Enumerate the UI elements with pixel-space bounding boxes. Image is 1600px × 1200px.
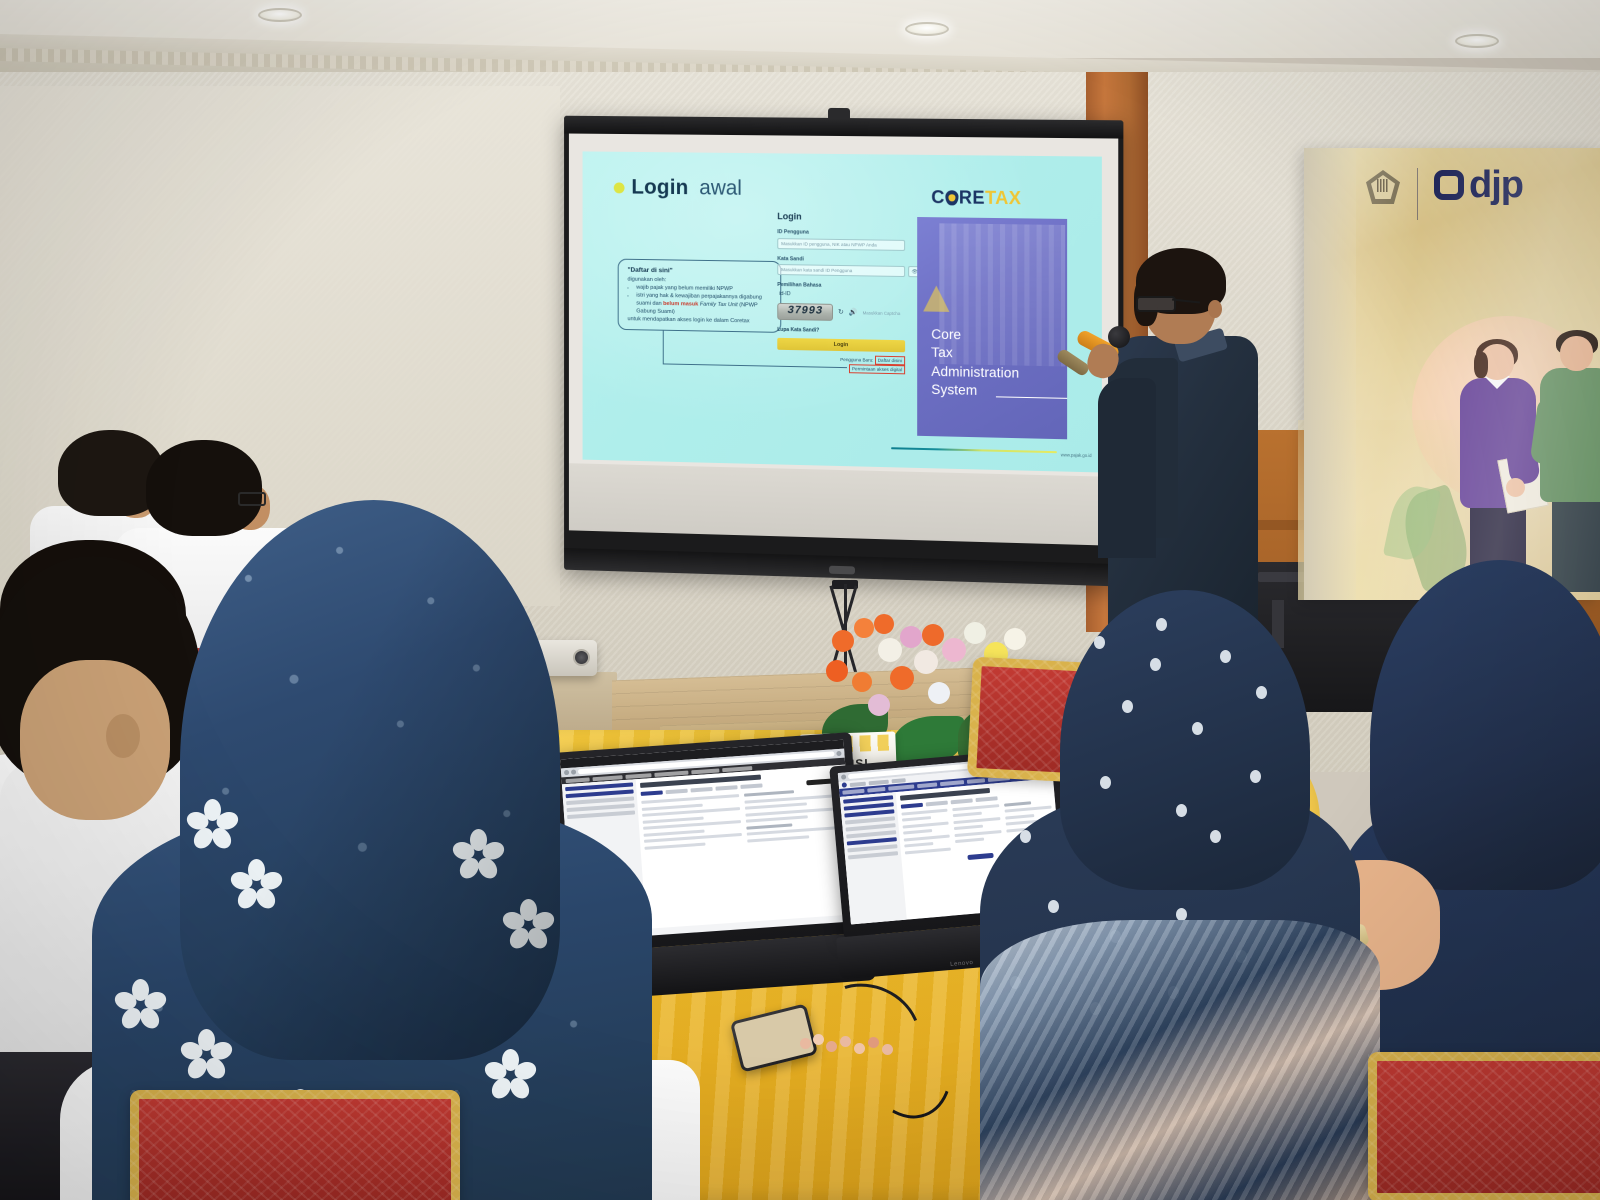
- back-icon[interactable]: [841, 774, 846, 779]
- hero-text: Core Tax Administration System: [931, 325, 1019, 402]
- captcha-row: 37993 ↻ 🔊 Masukkan Captcha: [777, 302, 905, 321]
- tab-informasi-umum[interactable]: [665, 789, 687, 794]
- bullet-dot-icon: [614, 182, 625, 193]
- microphone-head-icon: [1108, 326, 1130, 348]
- callout-tail: untuk mendapatkan akses login ke dalam C…: [627, 316, 771, 326]
- glasses-icon: [1136, 296, 1176, 312]
- patterned-scarf: [980, 920, 1380, 1200]
- user-id-input[interactable]: Masukkan ID pengguna, NIK atau NPWP Anda: [777, 238, 905, 251]
- hero-line-4: System: [931, 381, 1019, 402]
- decorative-triangle-icon: [923, 285, 949, 312]
- forgot-password-link[interactable]: Lupa Kata Sandi?: [777, 326, 905, 334]
- callout-heading: "Daftar di sini": [627, 267, 771, 276]
- hero-line-2: Tax: [931, 344, 1019, 364]
- tab-profil[interactable]: [900, 803, 922, 808]
- captcha-image: 37993: [777, 302, 833, 320]
- ceiling-light-icon: [1455, 34, 1499, 48]
- tab-detail-kontak[interactable]: [950, 798, 972, 803]
- hero-line-3: Administration: [931, 363, 1019, 384]
- tab-informasi-umum[interactable]: [925, 801, 947, 806]
- tab-pihak-terkait[interactable]: [715, 785, 737, 790]
- login-footer-links: Pengguna Baru: Daftar disini Permintaan …: [777, 353, 905, 374]
- new-user-prefix: Pengguna Baru:: [840, 357, 873, 363]
- beaded-strap: [800, 1032, 896, 1066]
- ceiling-light-icon: [905, 22, 949, 36]
- menu-icon[interactable]: [836, 751, 841, 756]
- user-id-label: ID Pengguna: [777, 229, 905, 237]
- password-input[interactable]: Masukkan kata sandi ID Pengguna: [777, 264, 905, 277]
- coretax-logo: CRETAX: [931, 187, 1021, 209]
- callout-body: digunakan oleh: wajib pajak yang belum m…: [627, 277, 771, 327]
- djp-banner: djp: [1304, 148, 1600, 600]
- ceiling-light-icon: [258, 8, 302, 22]
- banquet-chair: [1368, 1052, 1600, 1200]
- slide-footer-url: www.pajak.go.id: [1061, 452, 1092, 458]
- login-form-card: Login ID Pengguna Masukkan ID pengguna, …: [777, 211, 905, 435]
- coretax-hero-panel: Core Tax Administration System: [917, 217, 1067, 439]
- hero-line-1: Core: [931, 325, 1019, 345]
- audience-member-hijab: [980, 590, 1360, 1200]
- slide-title-light: awal: [699, 176, 742, 200]
- presentation-slide: Login awal "Daftar di sini" digunakan ol…: [583, 151, 1102, 472]
- login-form-title: Login: [777, 211, 905, 223]
- laptop-2-brand: Lenovo: [950, 960, 974, 968]
- app-main-panel: [636, 765, 856, 929]
- callout-italic: Family Tax Unit: [700, 301, 738, 308]
- slide-title: Login awal: [614, 175, 742, 200]
- slide-title-bold: Login: [631, 176, 688, 200]
- callout-highlight: belum masuk: [663, 301, 698, 308]
- screen-surface: Login awal "Daftar di sini" digunakan ol…: [569, 134, 1118, 546]
- tab-aktivitas-ekonomi[interactable]: [740, 783, 762, 788]
- digital-access-link[interactable]: Permintaan akses digital: [849, 364, 905, 374]
- callout-connector: [663, 331, 664, 365]
- language-value[interactable]: id-ID: [779, 290, 905, 298]
- presenter: [1092, 248, 1272, 648]
- captcha-hint: Masukkan Captcha: [863, 310, 901, 316]
- language-label: Pemilihan Bahasa: [777, 282, 905, 290]
- refresh-icon[interactable]: ↻: [838, 308, 844, 316]
- conference-room-scene: Login awal "Daftar di sini" digunakan ol…: [0, 0, 1600, 1200]
- password-label: Kata Sandi: [777, 256, 905, 264]
- coretax-tax-word: TAX: [985, 188, 1021, 210]
- callout-item: istri yang hak & kewajiban perpajakannya…: [636, 292, 771, 318]
- banquet-chair: [130, 1090, 460, 1200]
- login-submit-button[interactable]: Login: [777, 337, 905, 351]
- shield-icon: [945, 190, 958, 205]
- speaker-icon[interactable]: 🔊: [849, 308, 858, 316]
- tab-detail-kontak[interactable]: [690, 787, 712, 792]
- slide-callout-box: "Daftar di sini" digunakan oleh: wajib p…: [618, 259, 782, 333]
